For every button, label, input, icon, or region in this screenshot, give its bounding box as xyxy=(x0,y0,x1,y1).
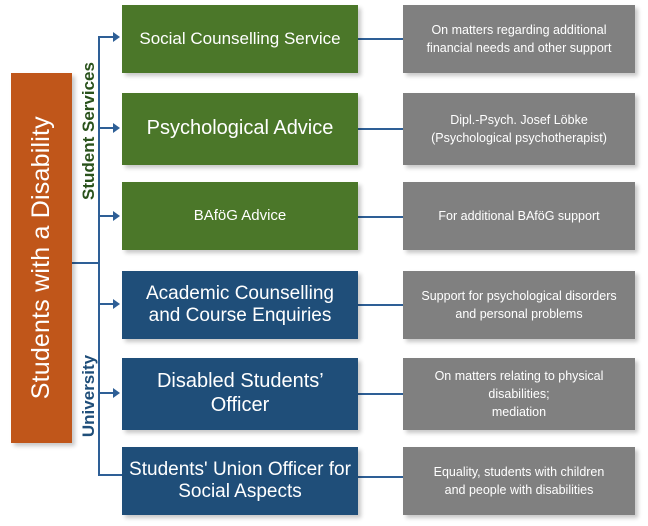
service-box-students-union-officer-for-social-aspects[interactable]: Students' Union Officer for Social Aspec… xyxy=(122,447,358,515)
group-label-university: University xyxy=(78,283,100,509)
connector-desc-5 xyxy=(358,393,404,395)
description-box-psychological-advice: Dipl.-Psych. Josef Löbke (Psychological … xyxy=(403,93,635,165)
arrow-head-1 xyxy=(113,32,120,42)
service-box-disabled-students-officer[interactable]: Disabled Students’ Officer xyxy=(122,358,358,430)
arrow-head-5 xyxy=(113,388,120,398)
service-box-social-counselling-service[interactable]: Social Counselling Service xyxy=(122,5,358,73)
arrow-head-3 xyxy=(113,211,120,221)
connector-desc-2 xyxy=(358,128,404,130)
service-box-bafoeg-advice[interactable]: BAföG Advice xyxy=(122,182,358,250)
description-box-disabled-students-officer: On matters relating to physical disabili… xyxy=(403,358,635,430)
service-box-label: Students' Union Officer for Social Aspec… xyxy=(128,459,352,504)
service-box-academic-counselling-and-course-enquiries[interactable]: Academic Counselling and Course Enquirie… xyxy=(122,271,358,339)
description-box-text: For additional BAföG support xyxy=(438,207,599,225)
description-box-academic-counselling-and-course-enquiries: Support for psychological disorders and … xyxy=(403,271,635,339)
service-box-label: Disabled Students’ Officer xyxy=(128,370,352,417)
connector-branch-4 xyxy=(98,303,114,305)
description-box-text: On matters relating to physical disabili… xyxy=(435,367,604,421)
arrow-head-2 xyxy=(113,123,120,133)
service-box-label: Academic Counselling and Course Enquirie… xyxy=(128,283,352,328)
connector-branch-2 xyxy=(98,127,114,129)
connector-desc-4 xyxy=(358,304,404,306)
description-box-text: Support for psychological disorders and … xyxy=(421,287,616,323)
root-node-students-with-a-disability[interactable]: Students with a Disability xyxy=(11,73,72,443)
group-label-student-services: Student Services xyxy=(78,18,100,244)
service-box-label: BAföG Advice xyxy=(194,207,287,225)
connector-branch-5 xyxy=(98,392,114,394)
service-box-label: Psychological Advice xyxy=(147,117,334,141)
description-box-bafoeg-advice: For additional BAföG support xyxy=(403,182,635,250)
service-box-psychological-advice[interactable]: Psychological Advice xyxy=(122,93,358,165)
connector-desc-6 xyxy=(358,476,404,478)
connector-desc-1 xyxy=(358,38,404,40)
connector-branch-3 xyxy=(98,215,114,217)
arrow-head-4 xyxy=(113,299,120,309)
root-node-label: Students with a Disability xyxy=(27,116,57,399)
connector-branch-1 xyxy=(98,36,114,38)
description-box-text: Equality, students with children and peo… xyxy=(434,463,605,499)
service-box-label: Social Counselling Service xyxy=(139,29,340,49)
description-box-social-counselling-service: On matters regarding additional financia… xyxy=(403,5,635,73)
connector-desc-3 xyxy=(358,216,404,218)
description-box-text: On matters regarding additional financia… xyxy=(427,21,612,57)
description-box-text: Dipl.-Psych. Josef Löbke (Psychological … xyxy=(431,111,607,147)
connector-root-stub xyxy=(72,262,100,264)
description-box-students-union-officer-for-social-aspects: Equality, students with children and peo… xyxy=(403,447,635,515)
connector-branch-6 xyxy=(98,474,124,476)
diagram-canvas: Students with a Disability Student Servi… xyxy=(0,0,648,526)
